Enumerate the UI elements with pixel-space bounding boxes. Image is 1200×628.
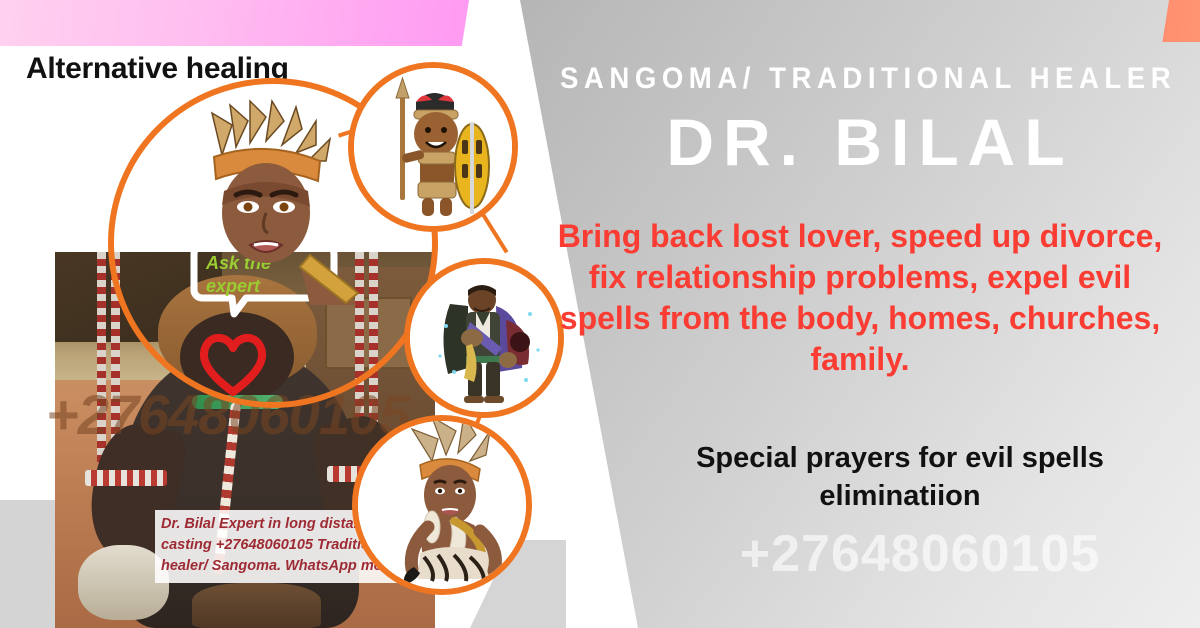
pink-accent-bar: [0, 0, 470, 46]
healer-name: DR. BILAL: [560, 104, 1180, 180]
crouching-zulu-dancer-icon: [352, 415, 532, 595]
phone-watermark: +27648060105: [640, 524, 1200, 584]
photo-bowl: [192, 583, 321, 628]
zulu-chief-portrait-icon: [150, 95, 380, 305]
services-text: Bring back lost lover, speed up divorce,…: [540, 216, 1180, 380]
zulu-warrior-cartoon-icon: [348, 62, 518, 232]
orange-accent-bar: [1162, 0, 1200, 42]
photo-armband-left: [85, 470, 167, 486]
poster-root: Alternative healing +27648060105 Ask the…: [0, 0, 1200, 628]
eyebrow-label: SANGOMA/ TRADITIONAL HEALER: [560, 62, 1130, 96]
connector-line-2: [480, 211, 509, 254]
special-prayers-text: Special prayers for evil spells eliminat…: [620, 440, 1180, 515]
grey-bottom-left-band: [0, 500, 58, 628]
